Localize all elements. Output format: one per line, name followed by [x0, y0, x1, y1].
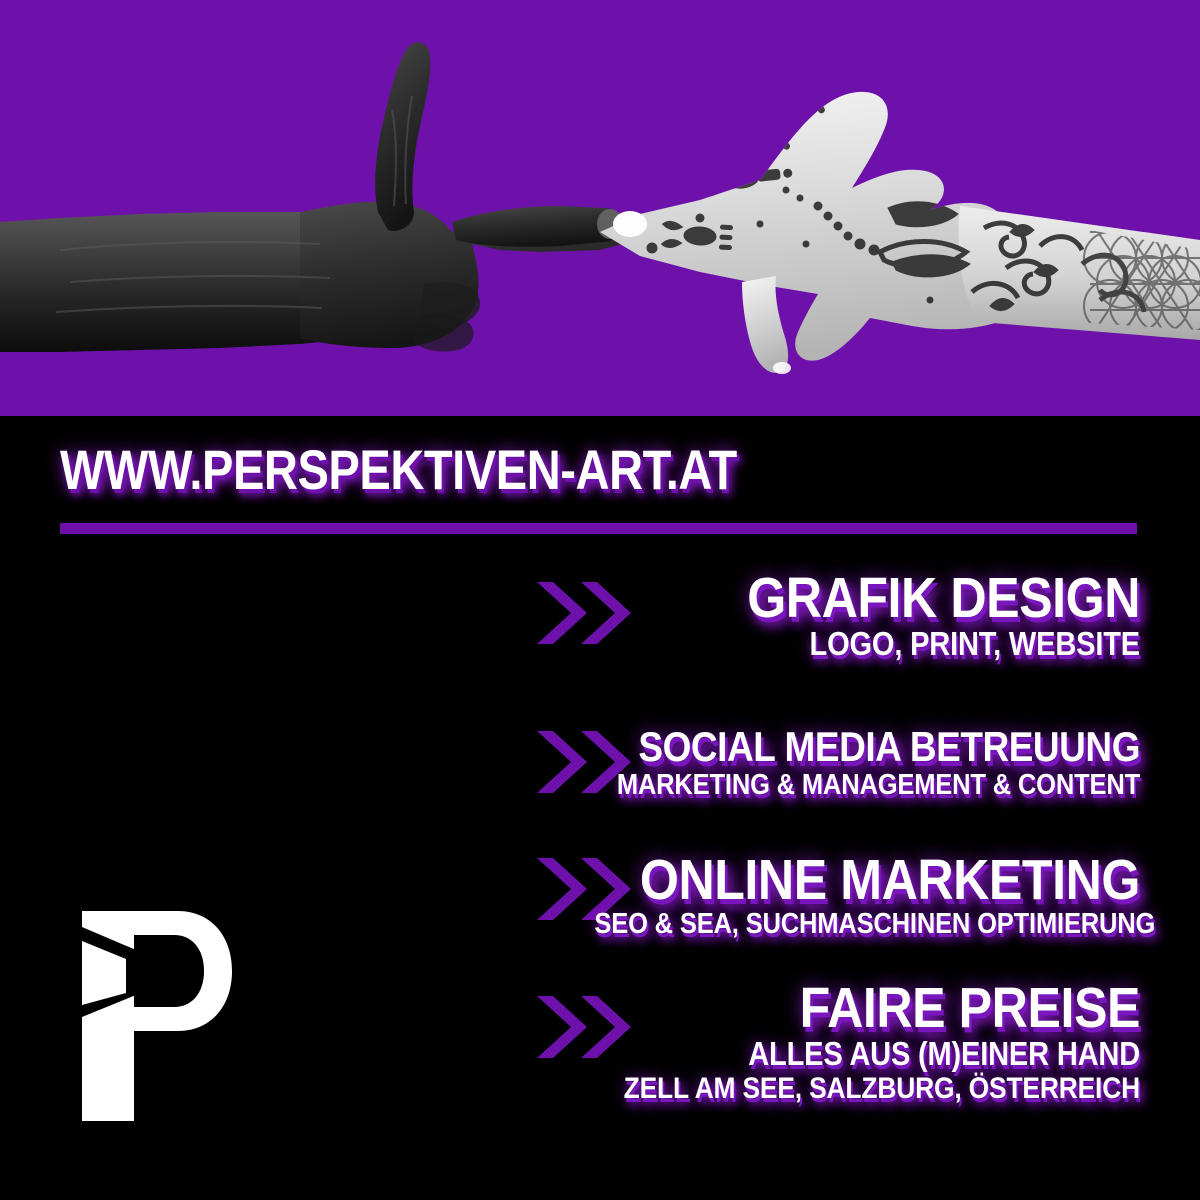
logo-mark: RT — [74, 905, 239, 1127]
logo-perspektiven-art[interactable]: RT — [74, 905, 239, 1127]
service-text-block: FAIRE PREISE ALLES AUS (M)EINER HAND ZEL… — [520, 980, 1140, 1106]
service-subtitle: MARKETING & MANAGEMENT & CONTENT — [594, 769, 1140, 801]
service-item-social-media-betreuung[interactable]: SOCIAL MEDIA BETREUUNG MARKETING & MANAG… — [520, 725, 1140, 801]
service-title: FAIRE PREISE — [594, 980, 1140, 1036]
website-url-text: WWW.PERSPEKTIVEN-ART.AT — [60, 437, 967, 503]
logo-rt-text: RT — [76, 1035, 134, 1105]
service-title: SOCIAL MEDIA BETREUUNG — [594, 725, 1140, 769]
divider-bar — [60, 523, 1137, 534]
service-subtitle: ALLES AUS (M)EINER HAND — [594, 1036, 1140, 1072]
service-title: ONLINE MARKETING — [594, 852, 1140, 908]
service-item-grafik-design[interactable]: GRAFIK DESIGN LOGO, PRINT, WEBSITE — [520, 570, 1140, 662]
service-subtitle: LOGO, PRINT, WEBSITE — [594, 626, 1140, 662]
poster-canvas: WWW.PERSPEKTIVEN-ART.AT RT — [0, 0, 1200, 1200]
website-url[interactable]: WWW.PERSPEKTIVEN-ART.AT — [60, 437, 1140, 507]
service-item-online-marketing[interactable]: ONLINE MARKETING SEO & SEA, SUCHMASCHINE… — [520, 852, 1140, 940]
service-item-faire-preise[interactable]: FAIRE PREISE ALLES AUS (M)EINER HAND ZEL… — [520, 980, 1140, 1106]
service-location: ZELL AM SEE, SALZBURG, ÖSTERREICH — [594, 1072, 1140, 1106]
hero-banner — [0, 0, 1200, 416]
service-text-block: ONLINE MARKETING SEO & SEA, SUCHMASCHINE… — [520, 852, 1140, 940]
service-text-block: SOCIAL MEDIA BETREUUNG MARKETING & MANAG… — [520, 725, 1140, 801]
service-text-block: GRAFIK DESIGN LOGO, PRINT, WEBSITE — [520, 570, 1140, 662]
service-title: GRAFIK DESIGN — [594, 570, 1140, 626]
two-hands-illustration — [0, 0, 1200, 416]
service-subtitle: SEO & SEA, SUCHMASCHINEN OPTIMIERUNG — [594, 908, 1140, 940]
